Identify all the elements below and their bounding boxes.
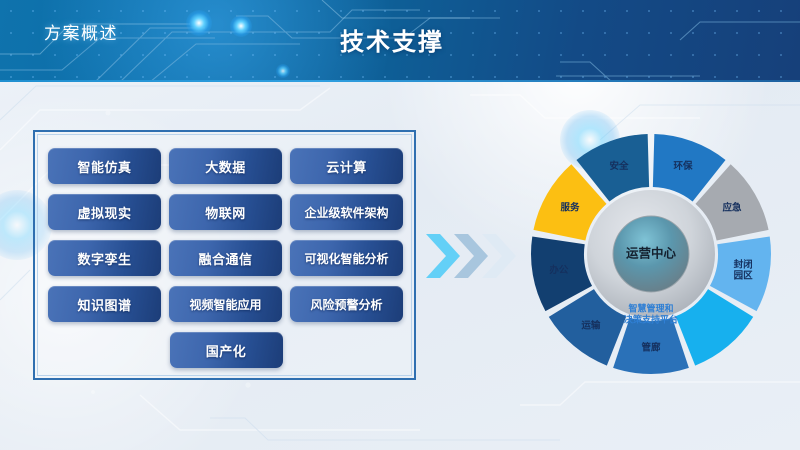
header-divider [0,80,800,82]
donut-segment-label: 运输 [581,319,601,331]
donut-segment-label: 安全 [610,160,630,172]
slide-header: 方案概述 技术支撑 [0,0,800,82]
tech-chip[interactable]: 国产化 [170,332,283,368]
tech-chip[interactable]: 风险预警分析 [290,286,403,322]
tech-chip[interactable]: 视频智能应用 [169,286,282,322]
tech-chip[interactable]: 可视化智能分析 [290,240,403,276]
page-title: 技术支撑 [340,22,444,57]
donut-center-title: 运营中心 [626,245,677,260]
tech-chip[interactable]: 数字孪生 [48,240,161,276]
tech-chip[interactable]: 物联网 [169,194,282,230]
tech-chip[interactable]: 虚拟现实 [48,194,161,230]
tech-chip-grid: 智能仿真大数据云计算虚拟现实物联网企业级软件架构数字孪生融合通信可视化智能分析知… [48,148,404,368]
header-glow-dot-1 [186,10,212,36]
donut-segment-label: 封闭园区 [734,258,754,281]
donut-segment-label: 环保 [673,160,693,172]
tech-chip[interactable]: 云计算 [290,148,403,184]
chevron-right-icon [424,228,524,284]
tech-chip[interactable]: 知识图谱 [48,286,161,322]
slide-canvas: 方案概述 技术支撑 智能仿真大数据云计算虚拟现实物联网企业级软件架构数字孪生融合… [0,0,800,450]
donut-ring-subtitle-line2: 决策支持平台 [624,313,678,324]
donut-ring-subtitle-line1: 智慧管理和 [628,302,673,313]
donut-segment-label: 服务 [561,201,581,213]
tech-chip[interactable]: 融合通信 [169,240,282,276]
operation-center-donut-chart: 环保应急封闭园区管廊运输办公服务安全 运营中心 智慧管理和 决策支持平台 [525,128,777,380]
tech-chip[interactable]: 大数据 [169,148,282,184]
tech-chip[interactable]: 智能仿真 [48,148,161,184]
tech-chip-last-row: 国产化 [48,332,404,368]
tech-chip[interactable]: 企业级软件架构 [290,194,403,230]
header-glow-dot-3 [276,64,290,78]
breadcrumb[interactable]: 方案概述 [44,19,118,44]
donut-segment-label: 管廊 [641,341,661,353]
donut-segment-label: 办公 [549,264,569,276]
donut-segment-label: 应急 [722,201,742,213]
header-glow-dot-2 [230,15,252,37]
